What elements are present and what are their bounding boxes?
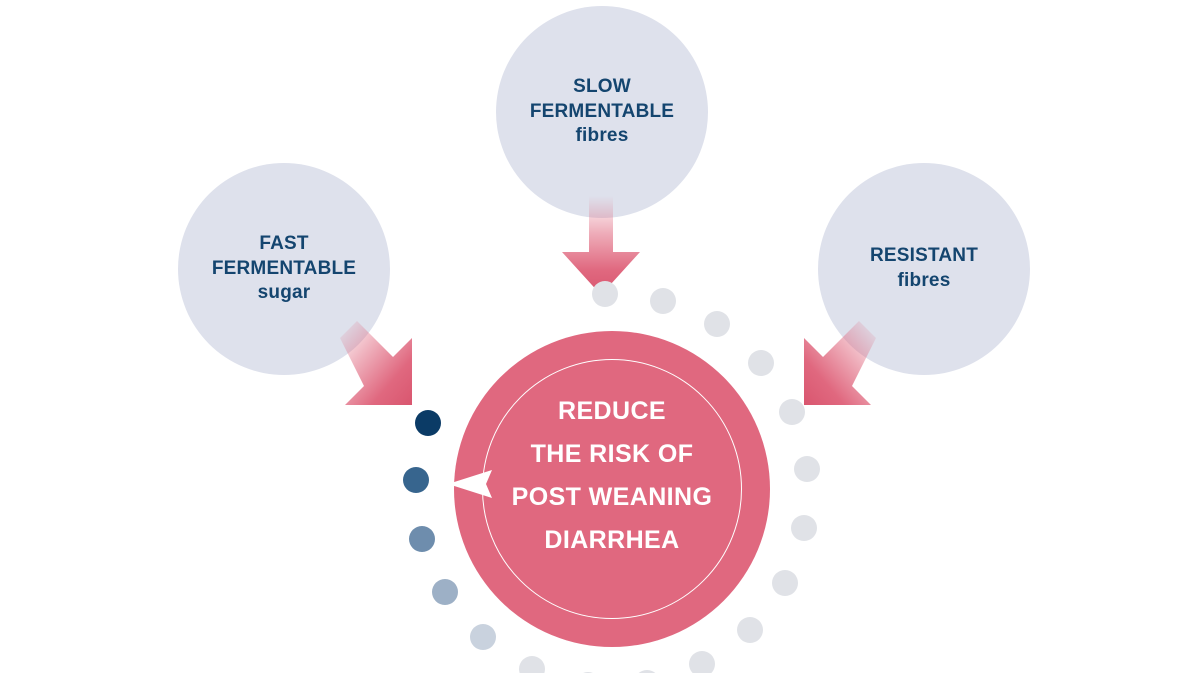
bubble-slow-text: SLOW FERMENTABLE fibres (530, 75, 674, 149)
bubble-fast-fermentable-sugar[interactable]: FAST FERMENTABLE sugar (178, 163, 390, 375)
bubble-resistant-text: RESISTANT fibres (870, 244, 978, 293)
bubble-slow-line1: SLOW (530, 75, 674, 100)
bubble-fast-line1: FAST (212, 232, 356, 257)
bubble-fast-line2: FERMENTABLE (212, 257, 356, 282)
bubble-slow-fermentable-fibres[interactable]: SLOW FERMENTABLE fibres (496, 6, 708, 218)
centre-line1: REDUCE (484, 390, 740, 433)
centre-line3: POST WEANING (484, 476, 740, 519)
ring-dot (791, 515, 817, 541)
ring-dot (409, 526, 435, 552)
centre-label: REDUCE THE RISK OF POST WEANING DIARRHEA (484, 390, 740, 562)
ring-dot (794, 456, 820, 482)
bubble-slow-line2: FERMENTABLE (530, 100, 674, 125)
ring-dot (519, 656, 545, 673)
bubble-resistant-line3: fibres (870, 269, 978, 294)
bubble-fast-text: FAST FERMENTABLE sugar (212, 232, 356, 306)
infographic-canvas: FAST FERMENTABLE sugar SLOW FERMENTABLE … (0, 0, 1200, 673)
ring-dot (415, 410, 441, 436)
centre-line4: DIARRHEA (484, 519, 740, 562)
ring-dot (737, 617, 763, 643)
bubble-resistant-fibres[interactable]: RESISTANT fibres (818, 163, 1030, 375)
bubble-resistant-line1: RESISTANT (870, 244, 978, 269)
ring-dot (470, 624, 496, 650)
ring-dot (748, 350, 774, 376)
ring-dot (432, 579, 458, 605)
ring-dot (689, 651, 715, 673)
bubble-slow-line3: fibres (530, 124, 674, 149)
centre-line2: THE RISK OF (484, 433, 740, 476)
ring-dot (592, 281, 618, 307)
ring-dot (403, 467, 429, 493)
ring-dot (779, 399, 805, 425)
ring-dot (704, 311, 730, 337)
ring-dot (772, 570, 798, 596)
bubble-fast-line3: sugar (212, 281, 356, 306)
ring-dot (650, 288, 676, 314)
